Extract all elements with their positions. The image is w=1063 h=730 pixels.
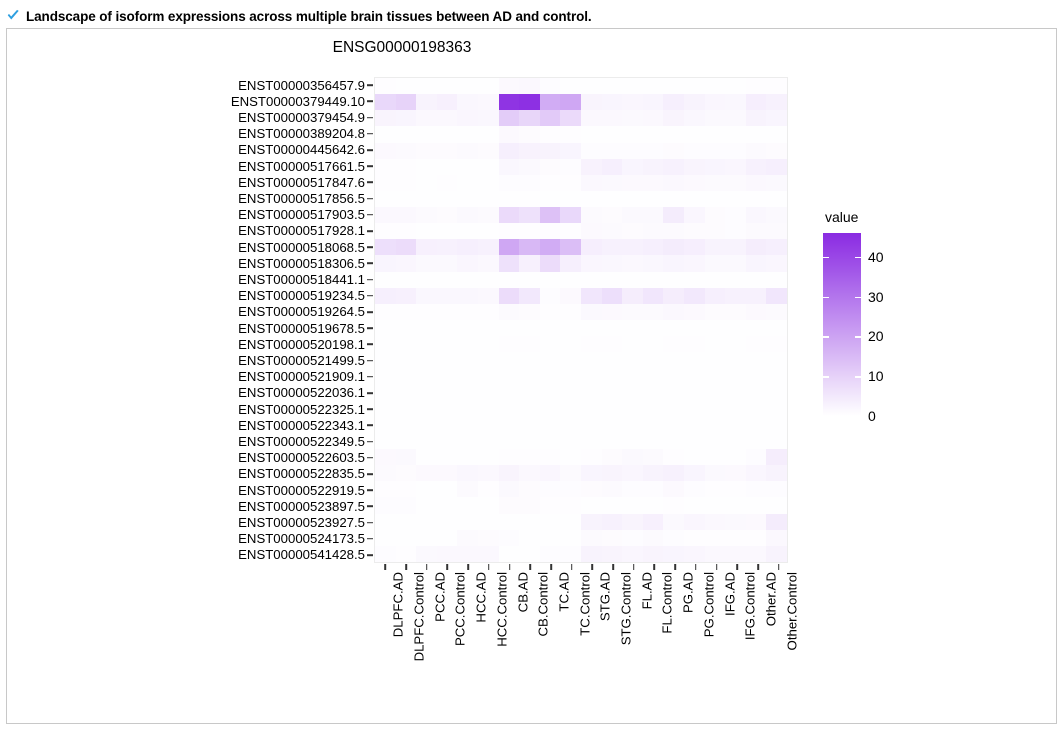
heatmap-cell[interactable] xyxy=(725,514,746,530)
heatmap-cell[interactable] xyxy=(375,481,396,497)
heatmap-cell[interactable] xyxy=(519,223,540,239)
heatmap-cell[interactable] xyxy=(416,223,437,239)
heatmap-cell[interactable] xyxy=(684,94,705,110)
heatmap-cell[interactable] xyxy=(705,288,726,304)
heatmap-cell[interactable] xyxy=(602,110,623,126)
heatmap-cell[interactable] xyxy=(766,239,787,255)
heatmap-cell[interactable] xyxy=(478,94,499,110)
heatmap-cell[interactable] xyxy=(478,288,499,304)
heatmap-cell[interactable] xyxy=(437,401,458,417)
heatmap-cell[interactable] xyxy=(746,433,767,449)
heatmap-cell[interactable] xyxy=(478,417,499,433)
heatmap-cell[interactable] xyxy=(766,530,787,546)
heatmap-cell[interactable] xyxy=(519,417,540,433)
heatmap-cell[interactable] xyxy=(457,530,478,546)
heatmap-cell[interactable] xyxy=(375,336,396,352)
heatmap-cell[interactable] xyxy=(457,191,478,207)
heatmap-cell[interactable] xyxy=(705,207,726,223)
heatmap-cell[interactable] xyxy=(622,272,643,288)
heatmap-cell[interactable] xyxy=(684,514,705,530)
heatmap-cell[interactable] xyxy=(663,336,684,352)
heatmap-cell[interactable] xyxy=(540,514,561,530)
heatmap-cell[interactable] xyxy=(684,465,705,481)
heatmap-cell[interactable] xyxy=(581,175,602,191)
heatmap-cell[interactable] xyxy=(622,401,643,417)
heatmap-cell[interactable] xyxy=(663,78,684,94)
heatmap-cell[interactable] xyxy=(437,159,458,175)
heatmap-cell[interactable] xyxy=(663,272,684,288)
heatmap-cell[interactable] xyxy=(684,143,705,159)
heatmap-cell[interactable] xyxy=(499,465,520,481)
heatmap-cell[interactable] xyxy=(478,78,499,94)
heatmap-cell[interactable] xyxy=(705,352,726,368)
heatmap-cell[interactable] xyxy=(375,546,396,562)
heatmap-cell[interactable] xyxy=(457,94,478,110)
heatmap-cell[interactable] xyxy=(437,255,458,271)
heatmap-cell[interactable] xyxy=(519,530,540,546)
heatmap-cell[interactable] xyxy=(499,272,520,288)
heatmap-cell[interactable] xyxy=(725,175,746,191)
heatmap-cell[interactable] xyxy=(457,449,478,465)
heatmap-cell[interactable] xyxy=(622,336,643,352)
heatmap-cell[interactable] xyxy=(540,304,561,320)
heatmap-cell[interactable] xyxy=(684,255,705,271)
heatmap-cell[interactable] xyxy=(540,546,561,562)
heatmap-cell[interactable] xyxy=(746,497,767,513)
heatmap-cell[interactable] xyxy=(663,207,684,223)
heatmap-cell[interactable] xyxy=(581,207,602,223)
heatmap-cell[interactable] xyxy=(725,288,746,304)
heatmap-cell[interactable] xyxy=(560,385,581,401)
heatmap-cell[interactable] xyxy=(457,304,478,320)
heatmap-cell[interactable] xyxy=(643,191,664,207)
heatmap-cell[interactable] xyxy=(643,385,664,401)
heatmap-cell[interactable] xyxy=(746,481,767,497)
heatmap-cell[interactable] xyxy=(766,78,787,94)
heatmap-cell[interactable] xyxy=(396,481,417,497)
heatmap-cell[interactable] xyxy=(540,352,561,368)
heatmap-cell[interactable] xyxy=(684,368,705,384)
heatmap-cell[interactable] xyxy=(725,223,746,239)
heatmap-cell[interactable] xyxy=(746,352,767,368)
heatmap-cell[interactable] xyxy=(746,159,767,175)
heatmap-cell[interactable] xyxy=(375,78,396,94)
heatmap-cell[interactable] xyxy=(663,481,684,497)
heatmap-cell[interactable] xyxy=(725,94,746,110)
heatmap-cell[interactable] xyxy=(540,465,561,481)
heatmap-cell[interactable] xyxy=(416,175,437,191)
heatmap-cell[interactable] xyxy=(457,385,478,401)
heatmap-cell[interactable] xyxy=(602,449,623,465)
heatmap-cell[interactable] xyxy=(396,110,417,126)
heatmap-cell[interactable] xyxy=(602,223,623,239)
heatmap-cell[interactable] xyxy=(663,159,684,175)
heatmap-cell[interactable] xyxy=(746,368,767,384)
heatmap-cell[interactable] xyxy=(622,191,643,207)
heatmap-cell[interactable] xyxy=(725,207,746,223)
heatmap-cell[interactable] xyxy=(622,320,643,336)
heatmap-cell[interactable] xyxy=(766,320,787,336)
heatmap-cell[interactable] xyxy=(663,465,684,481)
heatmap-cell[interactable] xyxy=(560,336,581,352)
heatmap-cell[interactable] xyxy=(602,272,623,288)
heatmap-cell[interactable] xyxy=(725,465,746,481)
heatmap-cell[interactable] xyxy=(705,191,726,207)
heatmap-cell[interactable] xyxy=(622,449,643,465)
heatmap-cell[interactable] xyxy=(416,207,437,223)
heatmap-cell[interactable] xyxy=(416,255,437,271)
heatmap-cell[interactable] xyxy=(622,110,643,126)
heatmap-cell[interactable] xyxy=(663,352,684,368)
heatmap-cell[interactable] xyxy=(581,143,602,159)
heatmap-cell[interactable] xyxy=(581,78,602,94)
heatmap-cell[interactable] xyxy=(725,110,746,126)
heatmap-cell[interactable] xyxy=(766,94,787,110)
heatmap-cell[interactable] xyxy=(499,304,520,320)
heatmap-cell[interactable] xyxy=(602,78,623,94)
heatmap-cell[interactable] xyxy=(684,385,705,401)
heatmap-cell[interactable] xyxy=(766,465,787,481)
heatmap-cell[interactable] xyxy=(396,417,417,433)
heatmap-cell[interactable] xyxy=(705,223,726,239)
heatmap-cell[interactable] xyxy=(375,449,396,465)
heatmap-cell[interactable] xyxy=(684,207,705,223)
heatmap-cell[interactable] xyxy=(478,110,499,126)
heatmap-cell[interactable] xyxy=(416,159,437,175)
heatmap-cell[interactable] xyxy=(746,255,767,271)
heatmap-cell[interactable] xyxy=(375,159,396,175)
heatmap-cell[interactable] xyxy=(602,207,623,223)
heatmap-cell[interactable] xyxy=(602,191,623,207)
heatmap-cell[interactable] xyxy=(457,368,478,384)
heatmap-cell[interactable] xyxy=(560,255,581,271)
heatmap-cell[interactable] xyxy=(725,239,746,255)
heatmap-cell[interactable] xyxy=(478,401,499,417)
heatmap-cell[interactable] xyxy=(725,304,746,320)
heatmap-cell[interactable] xyxy=(416,449,437,465)
heatmap-cell[interactable] xyxy=(499,191,520,207)
heatmap-cell[interactable] xyxy=(581,126,602,142)
heatmap-cell[interactable] xyxy=(643,352,664,368)
heatmap-cell[interactable] xyxy=(643,272,664,288)
heatmap-cell[interactable] xyxy=(499,352,520,368)
heatmap-cell[interactable] xyxy=(478,514,499,530)
heatmap-cell[interactable] xyxy=(540,126,561,142)
heatmap-cell[interactable] xyxy=(375,126,396,142)
heatmap-cell[interactable] xyxy=(581,191,602,207)
heatmap-cell[interactable] xyxy=(684,401,705,417)
heatmap-cell[interactable] xyxy=(457,223,478,239)
heatmap-cell[interactable] xyxy=(375,255,396,271)
heatmap-cell[interactable] xyxy=(499,223,520,239)
heatmap-cell[interactable] xyxy=(663,546,684,562)
heatmap-cell[interactable] xyxy=(581,159,602,175)
heatmap-cell[interactable] xyxy=(663,514,684,530)
heatmap-cell[interactable] xyxy=(478,336,499,352)
heatmap-cell[interactable] xyxy=(705,320,726,336)
heatmap-cell[interactable] xyxy=(746,239,767,255)
heatmap-cell[interactable] xyxy=(622,255,643,271)
heatmap-cell[interactable] xyxy=(684,288,705,304)
heatmap-cell[interactable] xyxy=(622,465,643,481)
heatmap-cell[interactable] xyxy=(375,143,396,159)
heatmap-cell[interactable] xyxy=(766,352,787,368)
heatmap-cell[interactable] xyxy=(602,385,623,401)
heatmap-cell[interactable] xyxy=(416,352,437,368)
heatmap-cell[interactable] xyxy=(643,126,664,142)
heatmap-cell[interactable] xyxy=(684,272,705,288)
heatmap-cell[interactable] xyxy=(499,239,520,255)
heatmap-cell[interactable] xyxy=(705,159,726,175)
heatmap-cell[interactable] xyxy=(499,449,520,465)
heatmap-cell[interactable] xyxy=(457,336,478,352)
heatmap-cell[interactable] xyxy=(560,207,581,223)
heatmap-cell[interactable] xyxy=(602,239,623,255)
heatmap-cell[interactable] xyxy=(705,546,726,562)
heatmap-cell[interactable] xyxy=(746,78,767,94)
heatmap-cell[interactable] xyxy=(705,514,726,530)
heatmap-cell[interactable] xyxy=(396,223,417,239)
heatmap-cell[interactable] xyxy=(499,94,520,110)
heatmap-cell[interactable] xyxy=(499,78,520,94)
heatmap-cell[interactable] xyxy=(540,336,561,352)
heatmap-cell[interactable] xyxy=(540,175,561,191)
heatmap-cell[interactable] xyxy=(725,433,746,449)
heatmap-cell[interactable] xyxy=(499,417,520,433)
heatmap-cell[interactable] xyxy=(396,385,417,401)
heatmap-cell[interactable] xyxy=(437,546,458,562)
heatmap-cell[interactable] xyxy=(643,288,664,304)
heatmap-cell[interactable] xyxy=(457,239,478,255)
heatmap-cell[interactable] xyxy=(560,143,581,159)
heatmap-cell[interactable] xyxy=(560,191,581,207)
heatmap-cell[interactable] xyxy=(705,175,726,191)
heatmap-cell[interactable] xyxy=(643,433,664,449)
heatmap-cell[interactable] xyxy=(663,417,684,433)
heatmap-cell[interactable] xyxy=(581,546,602,562)
heatmap-cell[interactable] xyxy=(540,385,561,401)
heatmap-cell[interactable] xyxy=(457,352,478,368)
heatmap-cell[interactable] xyxy=(396,126,417,142)
heatmap-cell[interactable] xyxy=(396,191,417,207)
heatmap-cell[interactable] xyxy=(416,288,437,304)
heatmap-cell[interactable] xyxy=(602,175,623,191)
heatmap-cell[interactable] xyxy=(622,159,643,175)
heatmap-cell[interactable] xyxy=(746,401,767,417)
heatmap-cell[interactable] xyxy=(746,207,767,223)
heatmap-cell[interactable] xyxy=(396,336,417,352)
heatmap-cell[interactable] xyxy=(416,320,437,336)
heatmap-cell[interactable] xyxy=(602,288,623,304)
heatmap-cell[interactable] xyxy=(560,126,581,142)
heatmap-cell[interactable] xyxy=(416,78,437,94)
heatmap-cell[interactable] xyxy=(437,304,458,320)
heatmap-cell[interactable] xyxy=(457,514,478,530)
heatmap-cell[interactable] xyxy=(416,126,437,142)
heatmap-cell[interactable] xyxy=(499,175,520,191)
heatmap-cell[interactable] xyxy=(705,272,726,288)
heatmap-cell[interactable] xyxy=(375,368,396,384)
heatmap-cell[interactable] xyxy=(684,304,705,320)
heatmap-cell[interactable] xyxy=(540,78,561,94)
heatmap-cell[interactable] xyxy=(560,159,581,175)
heatmap-cell[interactable] xyxy=(375,94,396,110)
heatmap-cell[interactable] xyxy=(581,304,602,320)
heatmap-cell[interactable] xyxy=(663,385,684,401)
heatmap-cell[interactable] xyxy=(478,433,499,449)
heatmap-cell[interactable] xyxy=(725,449,746,465)
heatmap-cell[interactable] xyxy=(478,481,499,497)
heatmap-cell[interactable] xyxy=(581,497,602,513)
heatmap-cell[interactable] xyxy=(457,481,478,497)
heatmap-cell[interactable] xyxy=(478,304,499,320)
heatmap-cell[interactable] xyxy=(396,78,417,94)
heatmap-cell[interactable] xyxy=(560,530,581,546)
heatmap-cell[interactable] xyxy=(602,546,623,562)
heatmap-cell[interactable] xyxy=(705,433,726,449)
heatmap-cell[interactable] xyxy=(416,94,437,110)
heatmap-cell[interactable] xyxy=(602,530,623,546)
heatmap-cell[interactable] xyxy=(622,288,643,304)
heatmap-cell[interactable] xyxy=(499,481,520,497)
heatmap-cell[interactable] xyxy=(540,497,561,513)
heatmap-cell[interactable] xyxy=(622,385,643,401)
heatmap-cell[interactable] xyxy=(663,223,684,239)
heatmap-cell[interactable] xyxy=(581,288,602,304)
heatmap-cell[interactable] xyxy=(766,272,787,288)
heatmap-cell[interactable] xyxy=(519,159,540,175)
heatmap-cell[interactable] xyxy=(581,385,602,401)
heatmap-cell[interactable] xyxy=(663,497,684,513)
heatmap-cell[interactable] xyxy=(663,288,684,304)
heatmap-cell[interactable] xyxy=(437,336,458,352)
heatmap-cell[interactable] xyxy=(375,401,396,417)
heatmap-cell[interactable] xyxy=(499,255,520,271)
heatmap-cell[interactable] xyxy=(416,110,437,126)
heatmap-cell[interactable] xyxy=(375,385,396,401)
heatmap-cell[interactable] xyxy=(396,530,417,546)
heatmap-cell[interactable] xyxy=(560,239,581,255)
heatmap-cell[interactable] xyxy=(705,368,726,384)
heatmap-cell[interactable] xyxy=(602,255,623,271)
heatmap-cell[interactable] xyxy=(416,401,437,417)
heatmap-cell[interactable] xyxy=(560,304,581,320)
heatmap-cell[interactable] xyxy=(540,481,561,497)
heatmap-cell[interactable] xyxy=(375,304,396,320)
heatmap-cell[interactable] xyxy=(725,417,746,433)
heatmap-cell[interactable] xyxy=(437,110,458,126)
heatmap-cell[interactable] xyxy=(684,497,705,513)
heatmap-cell[interactable] xyxy=(622,239,643,255)
heatmap-cell[interactable] xyxy=(746,304,767,320)
heatmap-cell[interactable] xyxy=(416,514,437,530)
heatmap-cell[interactable] xyxy=(622,514,643,530)
heatmap-cell[interactable] xyxy=(560,481,581,497)
heatmap-cell[interactable] xyxy=(622,433,643,449)
heatmap-cell[interactable] xyxy=(643,223,664,239)
heatmap-cell[interactable] xyxy=(416,417,437,433)
heatmap-cell[interactable] xyxy=(375,514,396,530)
heatmap-cell[interactable] xyxy=(643,514,664,530)
heatmap-cell[interactable] xyxy=(602,401,623,417)
heatmap-cell[interactable] xyxy=(519,94,540,110)
heatmap-cell[interactable] xyxy=(663,143,684,159)
heatmap-cell[interactable] xyxy=(705,78,726,94)
heatmap-cell[interactable] xyxy=(663,239,684,255)
heatmap-cell[interactable] xyxy=(519,433,540,449)
heatmap-cell[interactable] xyxy=(725,546,746,562)
heatmap-cell[interactable] xyxy=(457,207,478,223)
heatmap-cell[interactable] xyxy=(725,481,746,497)
heatmap-cell[interactable] xyxy=(705,110,726,126)
heatmap-cell[interactable] xyxy=(437,385,458,401)
heatmap-cell[interactable] xyxy=(746,449,767,465)
heatmap-cell[interactable] xyxy=(684,449,705,465)
heatmap-cell[interactable] xyxy=(519,304,540,320)
heatmap-cell[interactable] xyxy=(457,288,478,304)
heatmap-cell[interactable] xyxy=(396,449,417,465)
heatmap-cell[interactable] xyxy=(725,159,746,175)
heatmap-cell[interactable] xyxy=(396,272,417,288)
heatmap-cell[interactable] xyxy=(643,159,664,175)
heatmap-cell[interactable] xyxy=(705,239,726,255)
heatmap-cell[interactable] xyxy=(478,352,499,368)
heatmap-cell[interactable] xyxy=(437,143,458,159)
heatmap-cell[interactable] xyxy=(457,320,478,336)
heatmap-cell[interactable] xyxy=(396,433,417,449)
heatmap-cell[interactable] xyxy=(560,417,581,433)
heatmap-cell[interactable] xyxy=(705,336,726,352)
heatmap-cell[interactable] xyxy=(663,433,684,449)
heatmap-cell[interactable] xyxy=(375,497,396,513)
heatmap-cell[interactable] xyxy=(437,207,458,223)
heatmap-cell[interactable] xyxy=(499,368,520,384)
heatmap-cell[interactable] xyxy=(622,352,643,368)
heatmap-cell[interactable] xyxy=(519,239,540,255)
heatmap-cell[interactable] xyxy=(396,207,417,223)
heatmap-cell[interactable] xyxy=(643,368,664,384)
heatmap-cell[interactable] xyxy=(725,191,746,207)
heatmap-cell[interactable] xyxy=(396,352,417,368)
heatmap-cell[interactable] xyxy=(437,78,458,94)
heatmap-cell[interactable] xyxy=(705,126,726,142)
heatmap-cell[interactable] xyxy=(766,385,787,401)
heatmap-cell[interactable] xyxy=(396,465,417,481)
heatmap-cell[interactable] xyxy=(643,94,664,110)
heatmap-cell[interactable] xyxy=(499,126,520,142)
heatmap-cell[interactable] xyxy=(437,191,458,207)
heatmap-cell[interactable] xyxy=(746,320,767,336)
heatmap-cell[interactable] xyxy=(705,530,726,546)
heatmap-cell[interactable] xyxy=(478,159,499,175)
heatmap-cell[interactable] xyxy=(643,465,664,481)
heatmap-cell[interactable] xyxy=(602,465,623,481)
heatmap-cell[interactable] xyxy=(705,481,726,497)
heatmap-cell[interactable] xyxy=(519,385,540,401)
heatmap-cell[interactable] xyxy=(643,143,664,159)
heatmap-cell[interactable] xyxy=(643,110,664,126)
heatmap-cell[interactable] xyxy=(560,401,581,417)
heatmap-cell[interactable] xyxy=(705,385,726,401)
heatmap-cell[interactable] xyxy=(540,255,561,271)
heatmap-cell[interactable] xyxy=(746,223,767,239)
heatmap-cell[interactable] xyxy=(746,126,767,142)
heatmap-cell[interactable] xyxy=(437,465,458,481)
heatmap-cell[interactable] xyxy=(643,449,664,465)
heatmap-cell[interactable] xyxy=(602,126,623,142)
heatmap-cell[interactable] xyxy=(375,110,396,126)
heatmap-cell[interactable] xyxy=(437,497,458,513)
